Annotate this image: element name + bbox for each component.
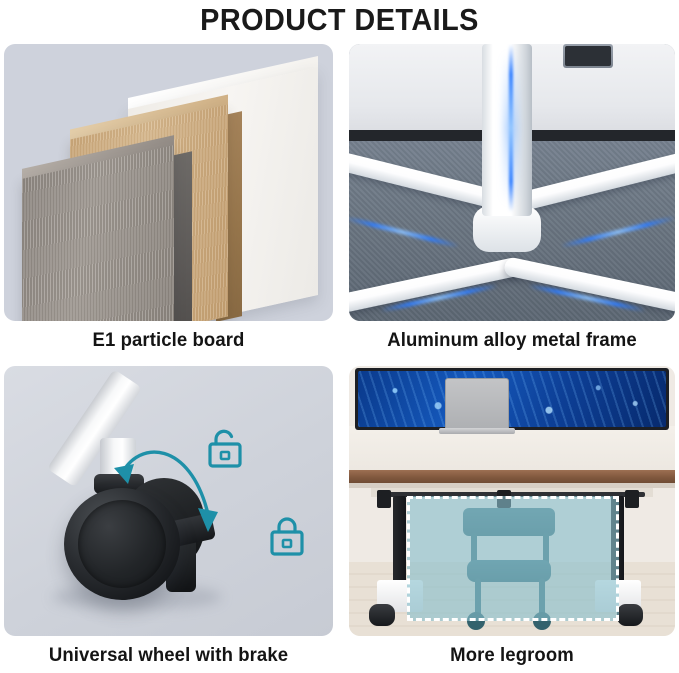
laptop-base — [439, 428, 515, 434]
panel-aluminum-alloy-metal-frame[interactable]: Aluminum alloy metal frame — [349, 44, 675, 321]
caster-wheel-image — [4, 366, 333, 636]
panel-caption: Universal wheel with brake — [12, 644, 325, 667]
legroom-highlight-region — [407, 496, 619, 621]
desk-leg-left — [393, 496, 406, 592]
monitor-screen — [358, 371, 666, 427]
laptop-lid — [445, 378, 509, 430]
panel-caption: E1 particle board — [12, 329, 325, 352]
wall-vent-icon — [565, 46, 611, 66]
desk-caster-left — [369, 604, 395, 626]
panel-universal-wheel-with-brake[interactable]: Universal wheel with brake — [4, 366, 333, 636]
lock-icon — [266, 514, 310, 560]
panel-more-legroom[interactable]: More legroom — [349, 366, 675, 636]
panel-caption: More legroom — [357, 644, 667, 667]
metal-frame-image — [349, 44, 675, 321]
desk-top-surface — [349, 470, 675, 484]
panel-e1-particle-board[interactable]: E1 particle board — [4, 44, 333, 321]
page-title: PRODUCT DETAILS — [24, 2, 655, 38]
legroom-image — [349, 366, 675, 636]
panel-caption: Aluminum alloy metal frame — [357, 329, 667, 352]
unlock-icon — [204, 426, 248, 472]
desk-caster-right — [617, 604, 643, 626]
desk-bracket — [625, 490, 639, 508]
desk-bracket — [377, 490, 391, 508]
product-details-grid: E1 particle board Aluminum alloy metal f… — [0, 44, 679, 673]
post-glow-line — [509, 44, 513, 212]
board-stack-image — [4, 44, 333, 321]
